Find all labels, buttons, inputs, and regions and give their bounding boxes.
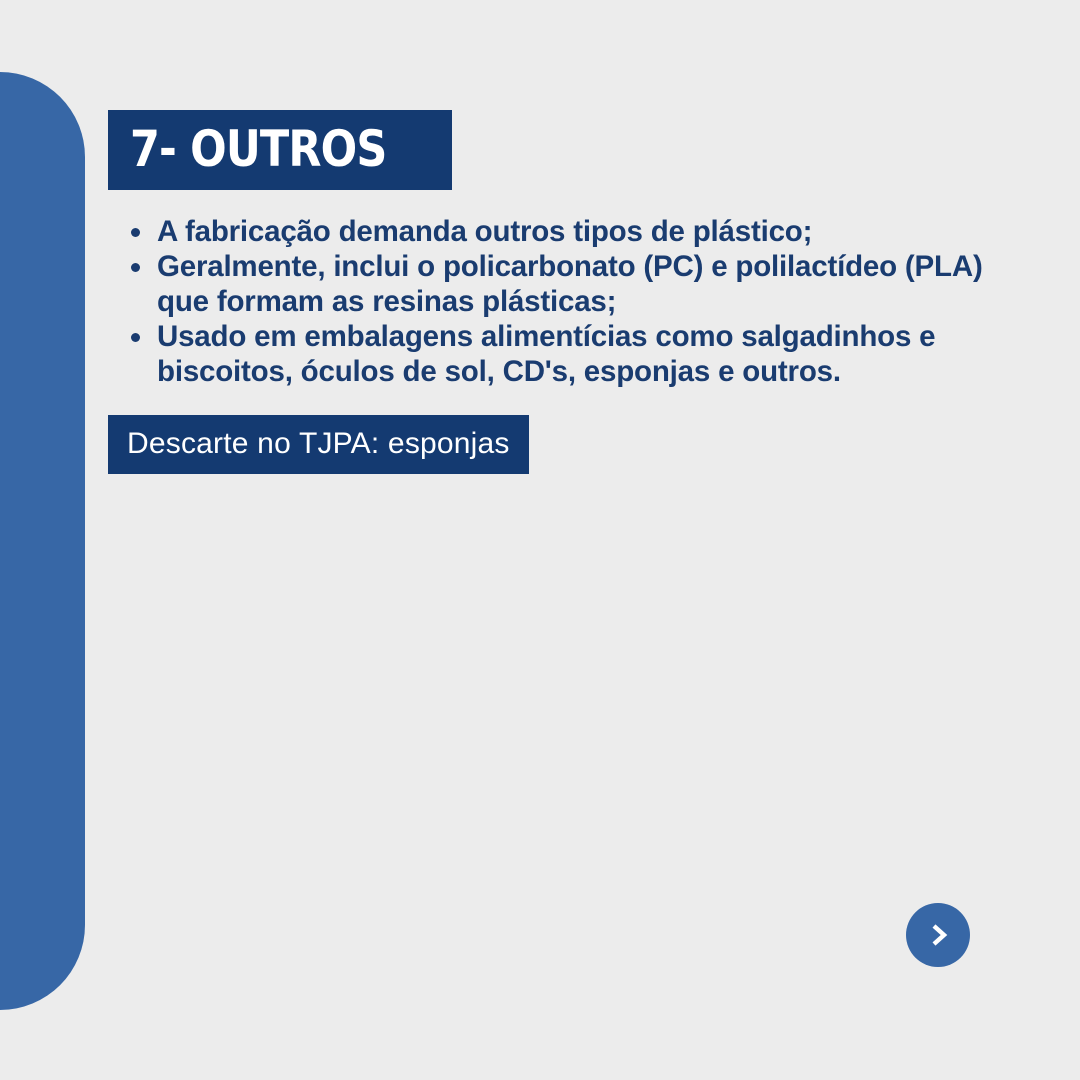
list-item: Geralmente, inclui o policarbonato (PC) … xyxy=(108,249,988,319)
next-slide-button[interactable] xyxy=(906,903,970,967)
list-item-text: Usado em embalagens alimentícias como sa… xyxy=(157,319,988,389)
page-title: 7- OUTROS xyxy=(130,124,386,174)
left-decorative-bar xyxy=(0,72,85,1010)
chevron-right-icon xyxy=(923,920,953,950)
list-item: Usado em embalagens alimentícias como sa… xyxy=(108,319,988,389)
bullet-dot-icon xyxy=(131,263,140,272)
list-item-text: A fabricação demanda outros tipos de plá… xyxy=(157,214,988,249)
section-title-chip: 7- OUTROS xyxy=(108,110,452,190)
slide-content: 7- OUTROS A fabricação demanda outros ti… xyxy=(108,110,988,474)
list-item: A fabricação demanda outros tipos de plá… xyxy=(108,214,988,249)
bullet-dot-icon xyxy=(131,228,140,237)
bullet-dot-icon xyxy=(131,333,140,342)
list-item-text: Geralmente, inclui o policarbonato (PC) … xyxy=(157,249,988,319)
disposal-note-banner: Descarte no TJPA: esponjas xyxy=(108,415,529,474)
info-bullet-list: A fabricação demanda outros tipos de plá… xyxy=(108,214,988,389)
